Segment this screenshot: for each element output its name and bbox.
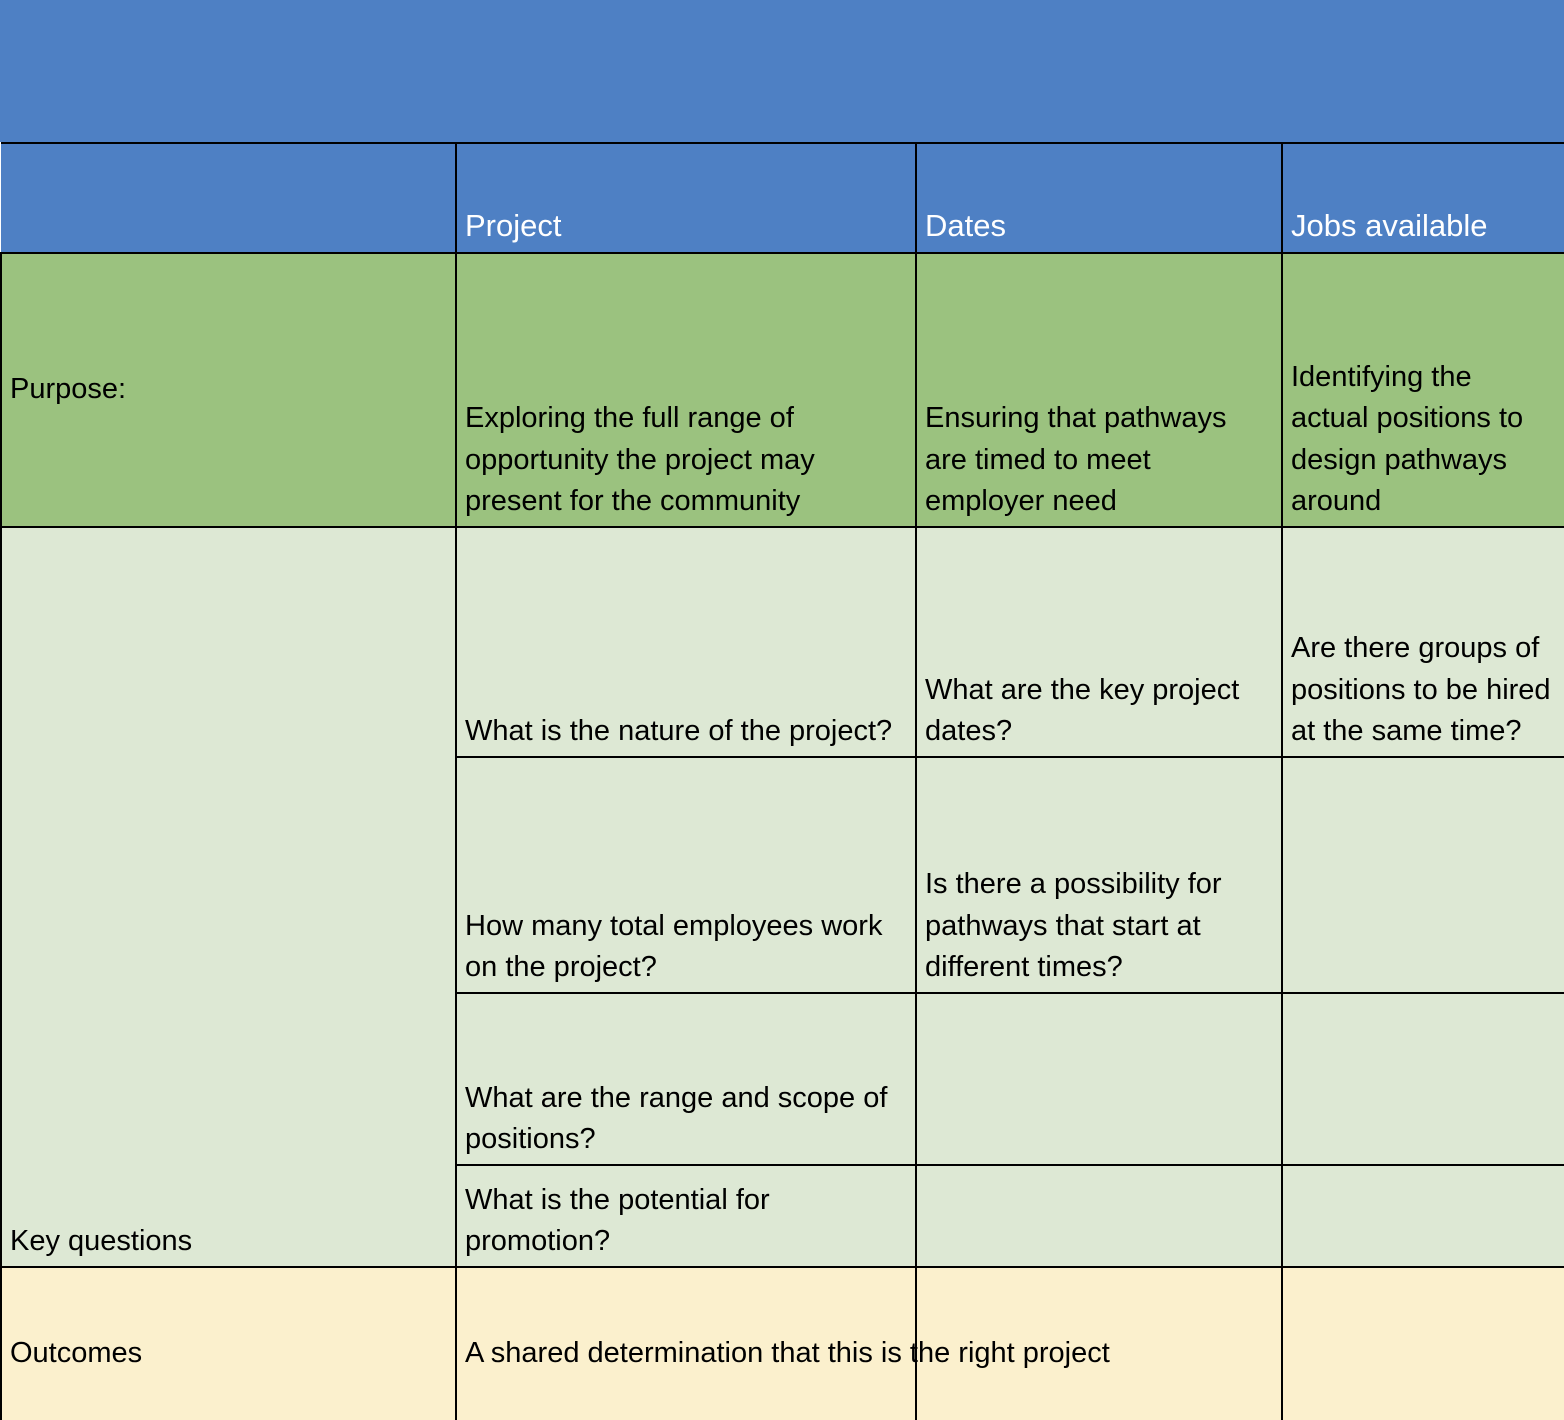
header-cell-project: Project xyxy=(456,143,916,253)
table-header-row: Project Dates Jobs available xyxy=(1,143,1564,253)
outcomes-jobs-cell xyxy=(1282,1267,1564,1420)
kq2-dates-cell: Is there a possibility for pathways that… xyxy=(916,757,1282,993)
row-label-purpose: Purpose: xyxy=(1,253,456,527)
table-row-key-questions-1: Key questions What is the nature of the … xyxy=(1,527,1564,757)
row-label-outcomes: Outcomes xyxy=(1,1267,456,1420)
header-cell-dates: Dates xyxy=(916,143,1282,253)
kq1-jobs-cell: Are there groups of positions to be hire… xyxy=(1282,527,1564,757)
kq3-jobs-cell xyxy=(1282,993,1564,1165)
kq1-project-cell: What is the nature of the project? xyxy=(456,527,916,757)
outcomes-project-cell: A shared determination that this is the … xyxy=(456,1267,916,1420)
header-cell-jobs-available: Jobs available xyxy=(1282,143,1564,253)
kq4-dates-cell xyxy=(916,1165,1282,1267)
kq2-jobs-cell xyxy=(1282,757,1564,993)
kq3-project-cell: What are the range and scope of position… xyxy=(456,993,916,1165)
top-blue-banner xyxy=(0,0,1564,142)
purpose-project-cell: Exploring the full range of opportunity … xyxy=(456,253,916,527)
row-label-key-questions: Key questions xyxy=(1,527,456,1267)
table-row-purpose: Purpose: Exploring the full range of opp… xyxy=(1,253,1564,527)
pathways-planning-matrix: Project Dates Jobs available Purpose: Ex… xyxy=(0,142,1564,1420)
purpose-jobs-cell: Identifying the actual positions to desi… xyxy=(1282,253,1564,527)
kq1-dates-cell: What are the key project dates? xyxy=(916,527,1282,757)
kq4-project-cell: What is the potential for promotion? xyxy=(456,1165,916,1267)
worksheet-canvas: Project Dates Jobs available Purpose: Ex… xyxy=(0,0,1564,1420)
header-cell-blank xyxy=(1,143,456,253)
table-row-outcomes: Outcomes A shared determination that thi… xyxy=(1,1267,1564,1420)
purpose-dates-cell: Ensuring that pathways are timed to meet… xyxy=(916,253,1282,527)
kq3-dates-cell xyxy=(916,993,1282,1165)
kq2-project-cell: How many total employees work on the pro… xyxy=(456,757,916,993)
kq4-jobs-cell xyxy=(1282,1165,1564,1267)
